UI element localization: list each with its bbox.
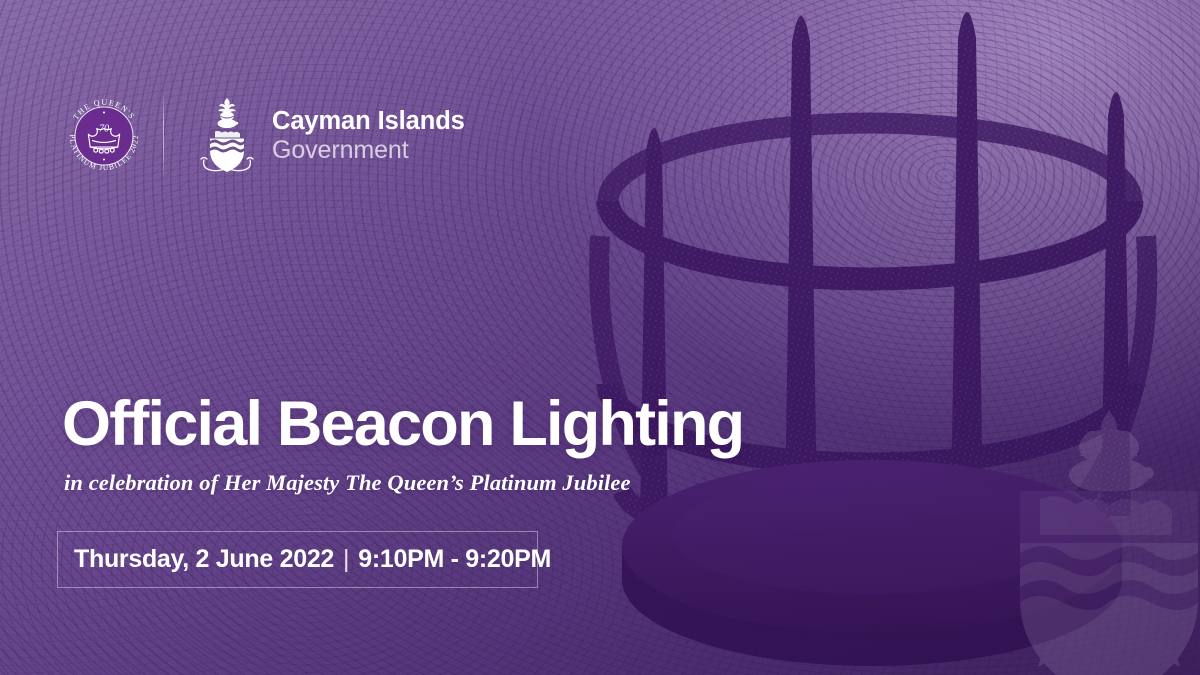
page-subtitle: in celebration of Her Majesty The Queen’…: [64, 470, 631, 496]
svg-text:70: 70: [99, 123, 109, 134]
cayman-islands-government-wordmark: Cayman Islands Government: [272, 108, 465, 164]
event-datetime-text: Thursday, 2 June 2022 | 9:10PM - 9:20PM: [74, 545, 551, 574]
logo-divider: [163, 95, 164, 177]
government-logo-line2: Government: [272, 137, 465, 164]
page-title: Official Beacon Lighting: [62, 392, 743, 456]
cayman-islands-government-logo: Cayman Islands Government: [198, 96, 465, 176]
cayman-islands-coat-of-arms-icon: [198, 96, 256, 176]
event-date: Thursday, 2 June 2022: [74, 545, 334, 574]
event-time-range: 9:10PM - 9:20PM: [358, 545, 551, 574]
datetime-separator: |: [343, 545, 349, 574]
cayman-islands-crest-watermark-icon: [984, 411, 1200, 675]
government-logo-line1: Cayman Islands: [272, 108, 465, 136]
event-datetime-box: Thursday, 2 June 2022 | 9:10PM - 9:20PM: [57, 531, 538, 588]
beacon-brazier-engraving-icon: [560, 0, 1200, 675]
promotional-banner: THE QUEEN'S PLATINUM JUBILEE 2022: [0, 0, 1200, 675]
logo-bar: THE QUEEN'S PLATINUM JUBILEE 2022: [58, 84, 465, 188]
queens-platinum-jubilee-emblem-icon: THE QUEEN'S PLATINUM JUBILEE 2022: [58, 90, 150, 182]
